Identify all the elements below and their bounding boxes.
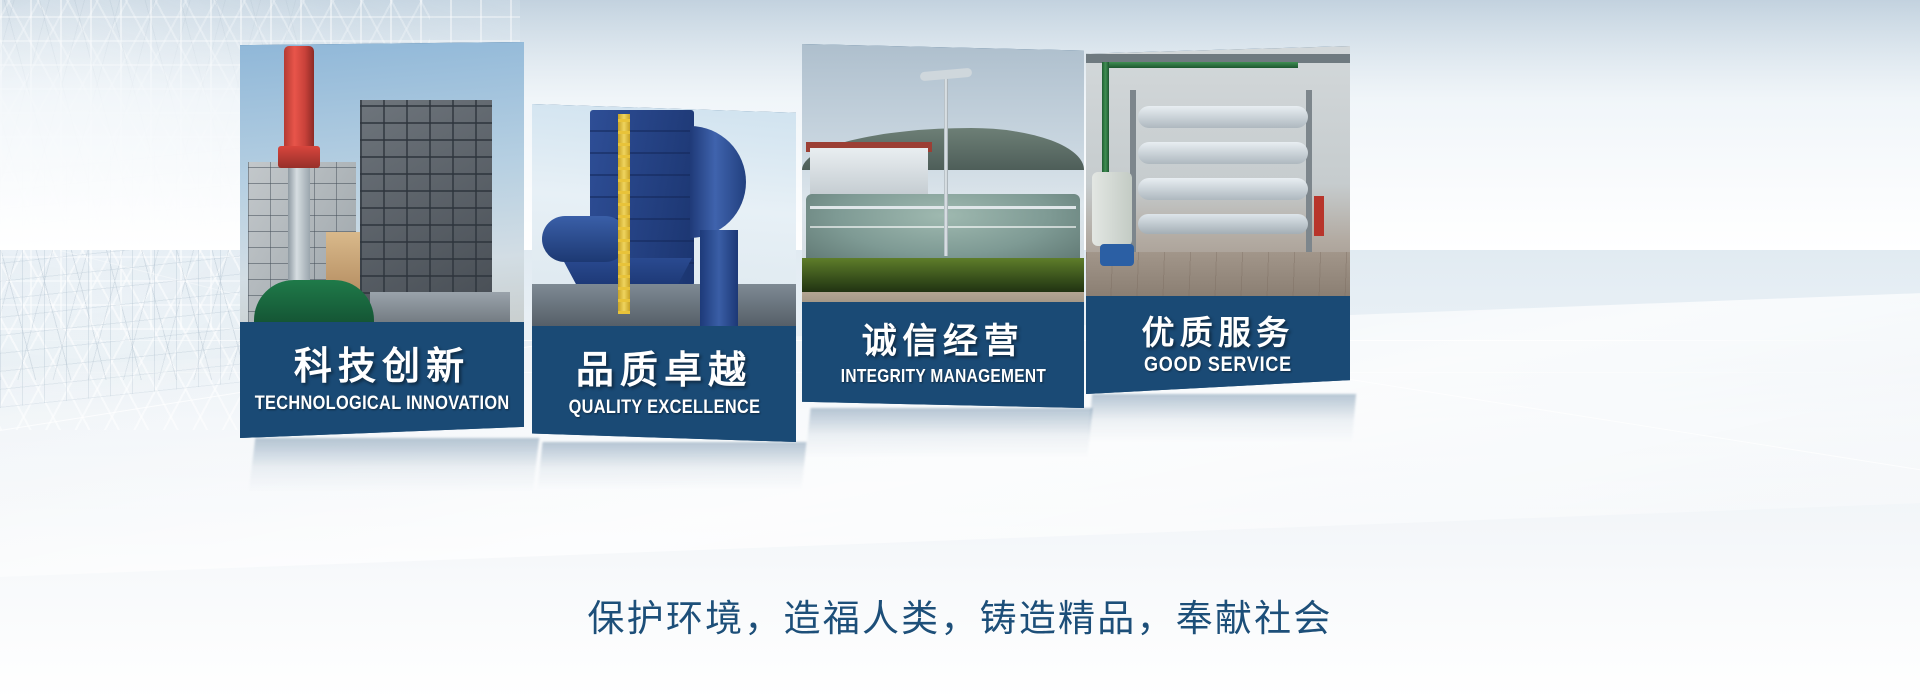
card-reflection-4: [1088, 394, 1356, 442]
card-caption-band-quality-excellence: 品质卓越 QUALITY EXCELLENCE: [532, 326, 796, 442]
card-title-en: INTEGRITY MANAGEMENT: [840, 367, 1045, 385]
card-title-en: TECHNOLOGICAL INNOVATION: [255, 394, 510, 413]
card-photo-good-service: [1086, 46, 1350, 296]
card-reflection-1: [249, 438, 540, 492]
card-title-cn: 品质卓越: [576, 351, 752, 389]
value-card-good-service[interactable]: 优质服务 GOOD SERVICE: [1086, 46, 1350, 394]
values-banner: 科技创新 TECHNOLOGICAL INNOVATION 品质卓越 QUALI…: [0, 0, 1920, 700]
value-card-technological-innovation[interactable]: 科技创新 TECHNOLOGICAL INNOVATION: [240, 42, 524, 438]
card-photo-integrity-management: [802, 44, 1084, 302]
card-photo-technological-innovation: [240, 42, 524, 322]
banner-tagline: 保护环境，造福人类，铸造精品，奉献社会: [0, 588, 1920, 642]
card-reflection-2: [537, 442, 806, 490]
card-caption-band-technological-innovation: 科技创新 TECHNOLOGICAL INNOVATION: [240, 322, 524, 438]
value-card-integrity-management[interactable]: 诚信经营 INTEGRITY MANAGEMENT: [802, 44, 1084, 408]
card-caption-band-integrity-management: 诚信经营 INTEGRITY MANAGEMENT: [802, 302, 1084, 408]
card-title-cn: 优质服务: [1141, 316, 1294, 349]
card-title-en: GOOD SERVICE: [1144, 354, 1292, 375]
card-reflection-3: [805, 408, 1092, 458]
card-title-en: QUALITY EXCELLENCE: [568, 398, 760, 417]
value-card-quality-excellence[interactable]: 品质卓越 QUALITY EXCELLENCE: [532, 104, 796, 442]
card-title-cn: 科技创新: [294, 347, 470, 385]
card-title-cn: 诚信经营: [862, 325, 1024, 360]
card-photo-quality-excellence: [532, 104, 796, 326]
card-caption-band-good-service: 优质服务 GOOD SERVICE: [1086, 296, 1350, 394]
